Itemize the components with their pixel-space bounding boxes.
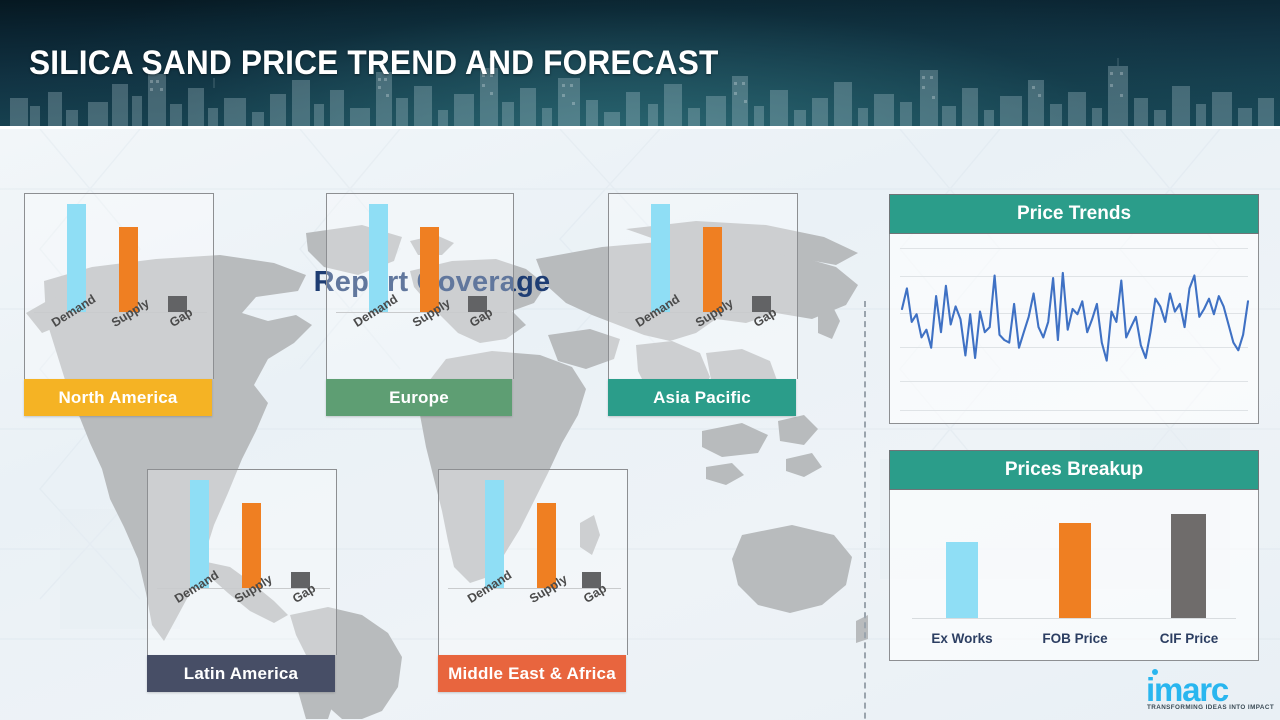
vertical-divider (864, 301, 866, 720)
bar-label-cif-price: CIF Price (1139, 631, 1239, 646)
region-name-label: North America (24, 379, 212, 416)
region-card-asia-pacific[interactable]: Demand Supply Gap Asia Pacific (608, 193, 796, 416)
region-mini-chart: Demand Supply Gap (326, 193, 514, 379)
region-name-label: Latin America (147, 655, 335, 692)
bar-fob-price (1059, 523, 1091, 618)
bar-label-fob-price: FOB Price (1025, 631, 1125, 646)
bar-ex-works (946, 542, 978, 618)
bar-supply (420, 227, 439, 312)
imarc-logo[interactable]: imarc TRANSFORMING IDEAS INTO IMPACT (1146, 671, 1270, 715)
panel-title-prices-breakup: Prices Breakup (889, 450, 1259, 490)
region-mini-chart: Demand Supply Gap (608, 193, 798, 379)
region-card-latin-america[interactable]: Demand Supply Gap Latin America (147, 469, 335, 692)
region-name-label: Europe (326, 379, 512, 416)
price-trends-chart (889, 234, 1259, 424)
region-card-north-america[interactable]: Demand Supply Gap North America (24, 193, 212, 416)
region-mini-chart: Demand Supply Gap (24, 193, 214, 379)
infographic-slide: SILICA SAND PRICE TREND AND FORECAST (0, 0, 1280, 720)
region-name-label: Asia Pacific (608, 379, 796, 416)
bar-supply (119, 227, 138, 312)
prices-breakup-chart: Ex Works FOB Price CIF Price (889, 490, 1259, 661)
panel-title-price-trends: Price Trends (889, 194, 1259, 234)
region-name-label: Middle East & Africa (438, 655, 626, 692)
panel-prices-breakup[interactable]: Prices Breakup Ex Works FOB Price CIF Pr… (889, 450, 1259, 661)
header-divider (0, 126, 1280, 128)
chart-baseline (912, 618, 1236, 619)
bar-label-ex-works: Ex Works (912, 631, 1012, 646)
bar-cif-price (1171, 514, 1206, 618)
price-trend-line (890, 234, 1259, 423)
bar-supply (242, 503, 261, 588)
region-mini-chart: Demand Supply Gap (438, 469, 628, 655)
region-card-middle-east-africa[interactable]: Demand Supply Gap Middle East & Africa (438, 469, 626, 692)
logo-tagline: TRANSFORMING IDEAS INTO IMPACT (1147, 704, 1274, 711)
region-mini-chart: Demand Supply Gap (147, 469, 337, 655)
panel-price-trends[interactable]: Price Trends (889, 194, 1259, 424)
logo-wordmark: imarc (1146, 673, 1228, 706)
region-card-europe[interactable]: Demand Supply Gap Europe (326, 193, 512, 416)
main-content: Report Coverage Demand Supply Gap North … (0, 129, 1280, 720)
page-title: SILICA SAND PRICE TREND AND FORECAST (29, 44, 718, 83)
bar-supply (537, 503, 556, 588)
bar-supply (703, 227, 722, 312)
header-banner: SILICA SAND PRICE TREND AND FORECAST (0, 0, 1280, 128)
